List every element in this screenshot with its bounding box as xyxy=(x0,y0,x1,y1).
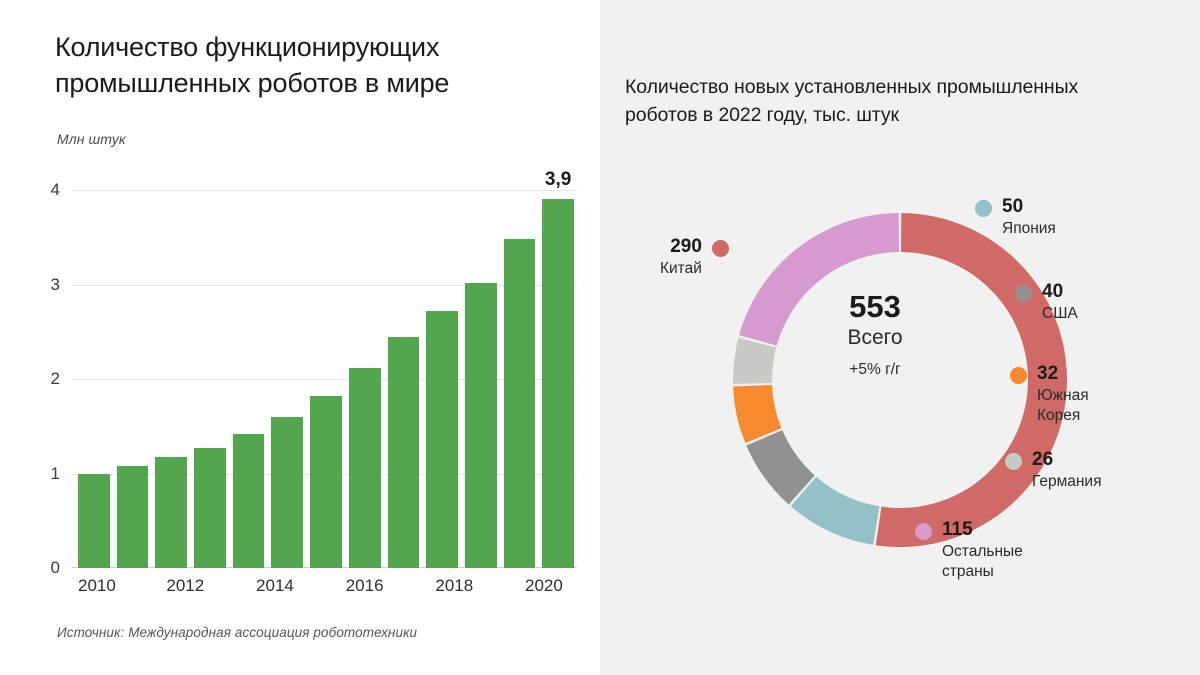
bar-item[interactable] xyxy=(78,190,110,568)
donut-callout[interactable]: 290Китай xyxy=(660,235,729,279)
callout-value: 26 xyxy=(1032,448,1102,472)
callout-value: 115 xyxy=(942,518,1023,542)
right-panel-donut-chart: Количество новых установленных промышлен… xyxy=(600,0,1200,675)
left-panel-bar-chart: Количество функционирующих промышленных … xyxy=(0,0,600,675)
callout-country-name: Япония xyxy=(1002,219,1056,239)
callout-text: 50Япония xyxy=(1002,195,1056,239)
bar[interactable] xyxy=(465,283,497,568)
donut-segment[interactable] xyxy=(733,338,776,384)
x-axis-tick-label: 2010 xyxy=(78,576,116,596)
bar-item[interactable] xyxy=(194,190,226,568)
callout-value: 50 xyxy=(1002,195,1056,219)
bar-item[interactable] xyxy=(349,190,381,568)
bar[interactable] xyxy=(388,337,420,568)
callout-country-name: Китай xyxy=(660,259,702,279)
x-axis-tick-label: 2020 xyxy=(525,576,563,596)
bar-item[interactable] xyxy=(117,190,149,568)
callout-country-name: Остальные страны xyxy=(942,542,1023,582)
x-axis-tick-label: 2012 xyxy=(166,576,204,596)
callout-text: 290Китай xyxy=(660,235,702,279)
callout-value: 40 xyxy=(1042,280,1078,304)
donut-stage: 553 Всего +5% г/г 290Китай50Япония40США3… xyxy=(600,0,1200,675)
donut-callout[interactable]: 32Южная Корея xyxy=(1010,362,1089,426)
callout-country-name: Германия xyxy=(1032,472,1102,492)
page-title: Количество функционирующих промышленных … xyxy=(55,30,555,102)
callout-text: 40США xyxy=(1042,280,1078,324)
donut-callout[interactable]: 26Германия xyxy=(1005,448,1102,492)
legend-dot-icon xyxy=(712,240,729,257)
bar[interactable] xyxy=(155,457,187,569)
donut-total-value: 553 xyxy=(785,290,965,324)
bar-item[interactable] xyxy=(233,190,265,568)
bar-item[interactable] xyxy=(504,190,536,568)
x-axis-labels: 2010201120122013201420152016201720182019… xyxy=(72,576,577,596)
bar[interactable] xyxy=(426,311,458,568)
bar-item[interactable] xyxy=(426,190,458,568)
x-axis-tick-label: 2018 xyxy=(435,576,473,596)
donut-callout[interactable]: 50Япония xyxy=(975,195,1056,239)
bar[interactable] xyxy=(78,474,110,569)
x-axis-tick-label: 2014 xyxy=(256,576,294,596)
callout-value: 32 xyxy=(1037,362,1089,386)
bar[interactable] xyxy=(542,199,574,568)
x-axis-tick-label: 2016 xyxy=(346,576,384,596)
y-axis-tick-label: 3 xyxy=(51,275,60,295)
callout-text: 32Южная Корея xyxy=(1037,362,1089,426)
bar-item[interactable] xyxy=(310,190,342,568)
callout-text: 115Остальные страны xyxy=(942,518,1023,582)
legend-dot-icon xyxy=(1010,367,1027,384)
y-axis-tick-label: 0 xyxy=(51,558,60,578)
source-note: Источник: Международная ассоциация робот… xyxy=(57,625,417,640)
infographic-page: Количество функционирующих промышленных … xyxy=(0,0,1200,675)
legend-dot-icon xyxy=(1015,285,1032,302)
bar-item[interactable] xyxy=(271,190,303,568)
bar-value-label: 3,9 xyxy=(545,169,571,191)
bar[interactable] xyxy=(271,417,303,568)
y-axis-tick-label: 2 xyxy=(51,369,60,389)
donut-center-summary: 553 Всего +5% г/г xyxy=(785,290,965,379)
callout-country-name: Южная Корея xyxy=(1037,386,1089,426)
bars-group: 3,9 xyxy=(72,190,577,568)
callout-text: 26Германия xyxy=(1032,448,1102,492)
y-axis-tick-label: 4 xyxy=(51,180,60,200)
donut-callout[interactable]: 115Остальные страны xyxy=(915,518,1023,582)
legend-dot-icon xyxy=(915,523,932,540)
bar-item[interactable] xyxy=(388,190,420,568)
callout-value: 290 xyxy=(660,235,702,259)
donut-total-label: Всего xyxy=(785,324,965,352)
legend-dot-icon xyxy=(975,200,992,217)
bar[interactable] xyxy=(117,466,149,568)
bar[interactable] xyxy=(194,448,226,568)
bar[interactable] xyxy=(349,368,381,568)
bar-item[interactable] xyxy=(155,190,187,568)
bar-chart-plot-area: 43210 3,9 xyxy=(72,190,577,568)
bar-item[interactable]: 3,9 xyxy=(542,190,574,568)
donut-delta-label: +5% г/г xyxy=(785,361,965,379)
callout-country-name: США xyxy=(1042,304,1078,324)
bar[interactable] xyxy=(310,396,342,568)
bar[interactable] xyxy=(233,434,265,568)
y-axis-units-label: Млн штук xyxy=(57,131,126,147)
bar-item[interactable] xyxy=(465,190,497,568)
bar[interactable] xyxy=(504,239,536,568)
legend-dot-icon xyxy=(1005,453,1022,470)
y-axis-tick-label: 1 xyxy=(51,464,60,484)
donut-callout[interactable]: 40США xyxy=(1015,280,1078,324)
